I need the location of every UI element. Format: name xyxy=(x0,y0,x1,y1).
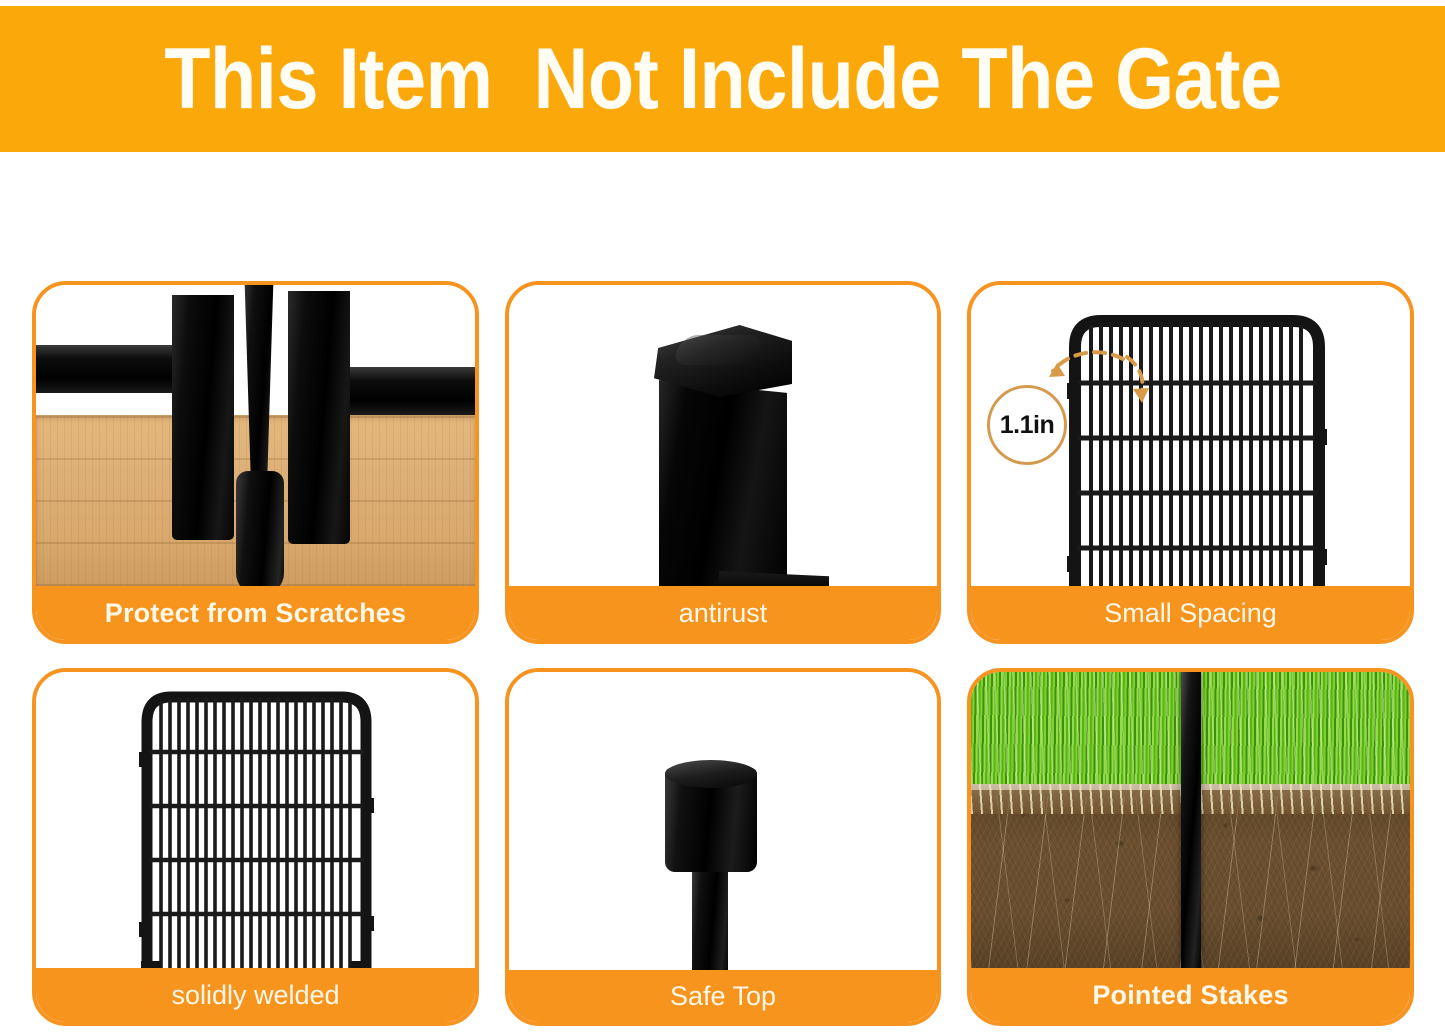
panel-caption-safe-top: Safe Top xyxy=(509,970,937,1022)
panel-caption-antirust: antirust xyxy=(509,586,937,640)
header-banner: This Item Not Include The Gate xyxy=(0,6,1445,152)
panel-solidly-welded[interactable]: solidly welded xyxy=(32,668,479,1026)
spacing-callout-value: 1.1in xyxy=(1000,411,1054,440)
fence-panel-closeup xyxy=(1067,311,1327,598)
fence-post-right xyxy=(288,291,350,544)
panel-pointed-stakes[interactable]: Pointed Stakes xyxy=(967,668,1414,1026)
page-title: This Item Not Include The Gate xyxy=(164,36,1282,122)
fence-post-left xyxy=(172,295,234,540)
panel-caption-pointed-stakes: Pointed Stakes xyxy=(971,968,1410,1022)
rubber-foot-cap xyxy=(236,471,284,595)
spacing-callout-badge: 1.1in xyxy=(987,385,1067,465)
safety-cap-top-face xyxy=(665,760,757,788)
fence-panel-full-svg xyxy=(139,688,374,970)
panel-caption-solidly-welded: solidly welded xyxy=(36,968,475,1022)
panel-safe-top[interactable]: Safe Top xyxy=(505,668,941,1026)
pointed-stake xyxy=(1181,672,1201,968)
soil-cross-section xyxy=(971,672,1410,968)
feature-panel-grid: Protect from Scratches antirust xyxy=(32,281,1414,1026)
panel-small-spacing[interactable]: 1.1in Small Spacing xyxy=(967,281,1414,644)
panel-antirust[interactable]: antirust xyxy=(505,281,941,644)
fence-rail-right xyxy=(336,367,475,415)
square-post-body xyxy=(659,380,787,595)
fence-panel-full xyxy=(139,688,374,970)
panel-caption-protect-from-scratches: Protect from Scratches xyxy=(36,586,475,640)
panel-protect-from-scratches[interactable]: Protect from Scratches xyxy=(32,281,479,644)
fence-panel-svg xyxy=(1067,311,1327,598)
panel-caption-small-spacing: Small Spacing xyxy=(971,586,1410,640)
